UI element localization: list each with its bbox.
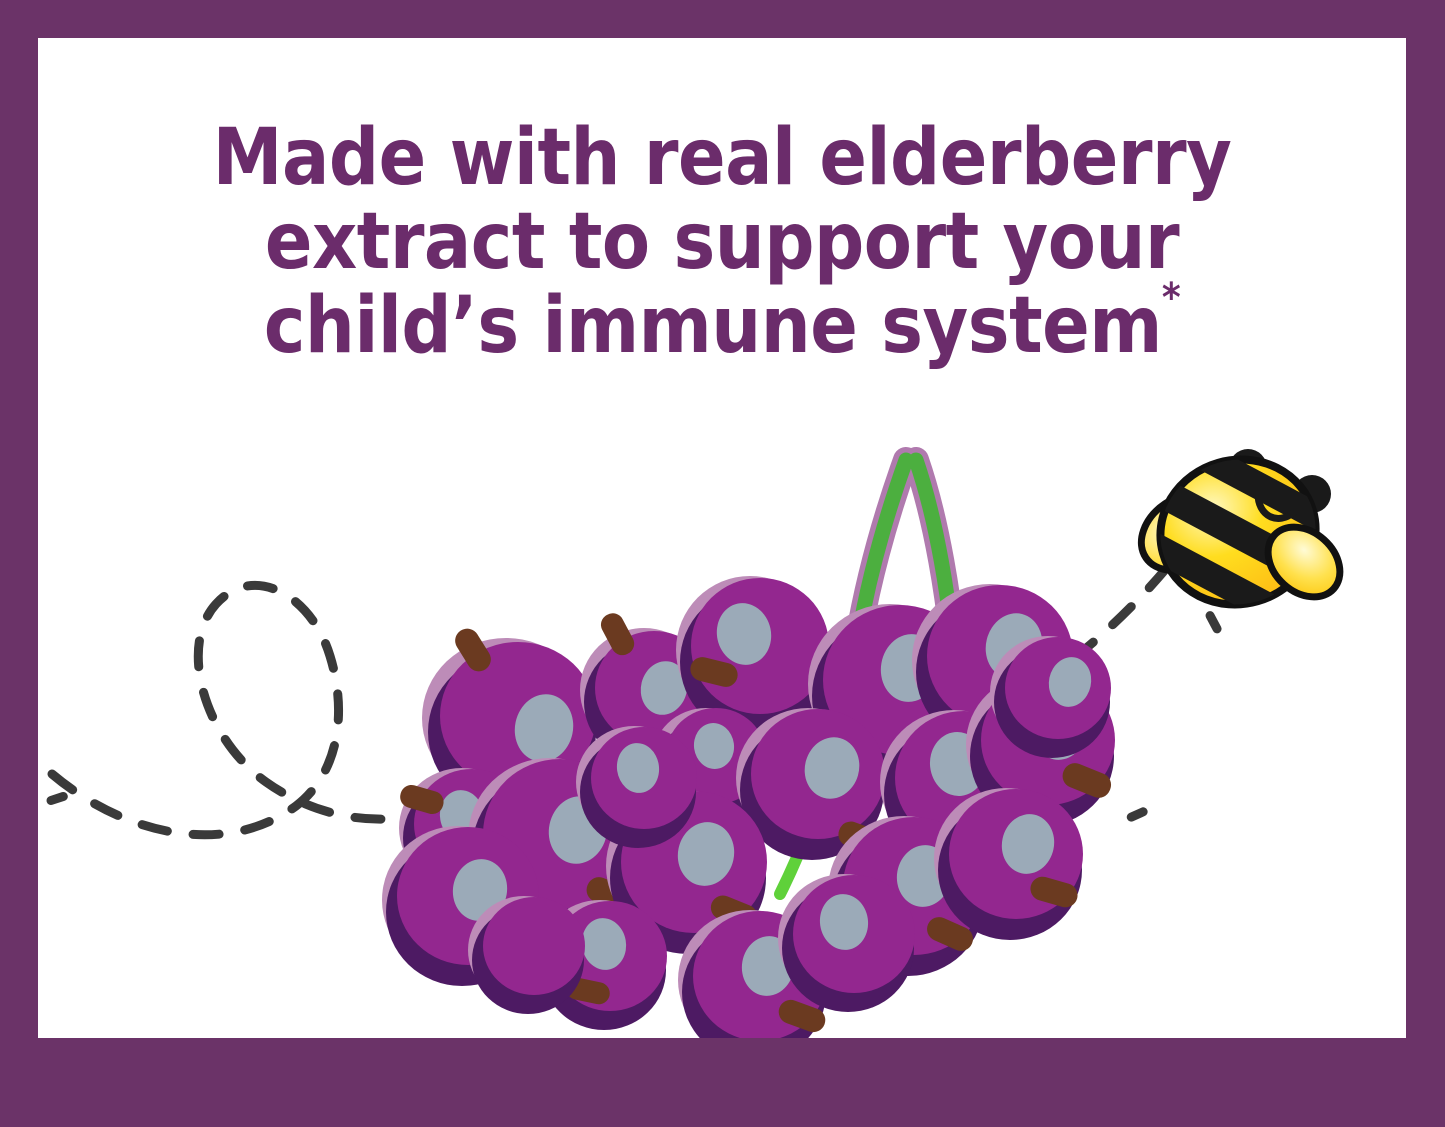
product-banner: Made with real elderberry extract to sup…	[0, 0, 1445, 1127]
illustration-stage: ®	[38, 38, 1406, 1038]
trail-dash-right	[1125, 806, 1149, 823]
illustration-svg: ®	[38, 38, 1406, 1038]
bee: ®	[1117, 428, 1372, 646]
elderberry-cluster	[45, 460, 1149, 1038]
inner-white-panel: Made with real elderberry extract to sup…	[38, 38, 1406, 1038]
bee-stinger-dash	[1204, 610, 1223, 635]
flight-path-left-loop	[52, 585, 442, 834]
trail-dash-left	[45, 791, 69, 806]
berry	[468, 896, 585, 1014]
